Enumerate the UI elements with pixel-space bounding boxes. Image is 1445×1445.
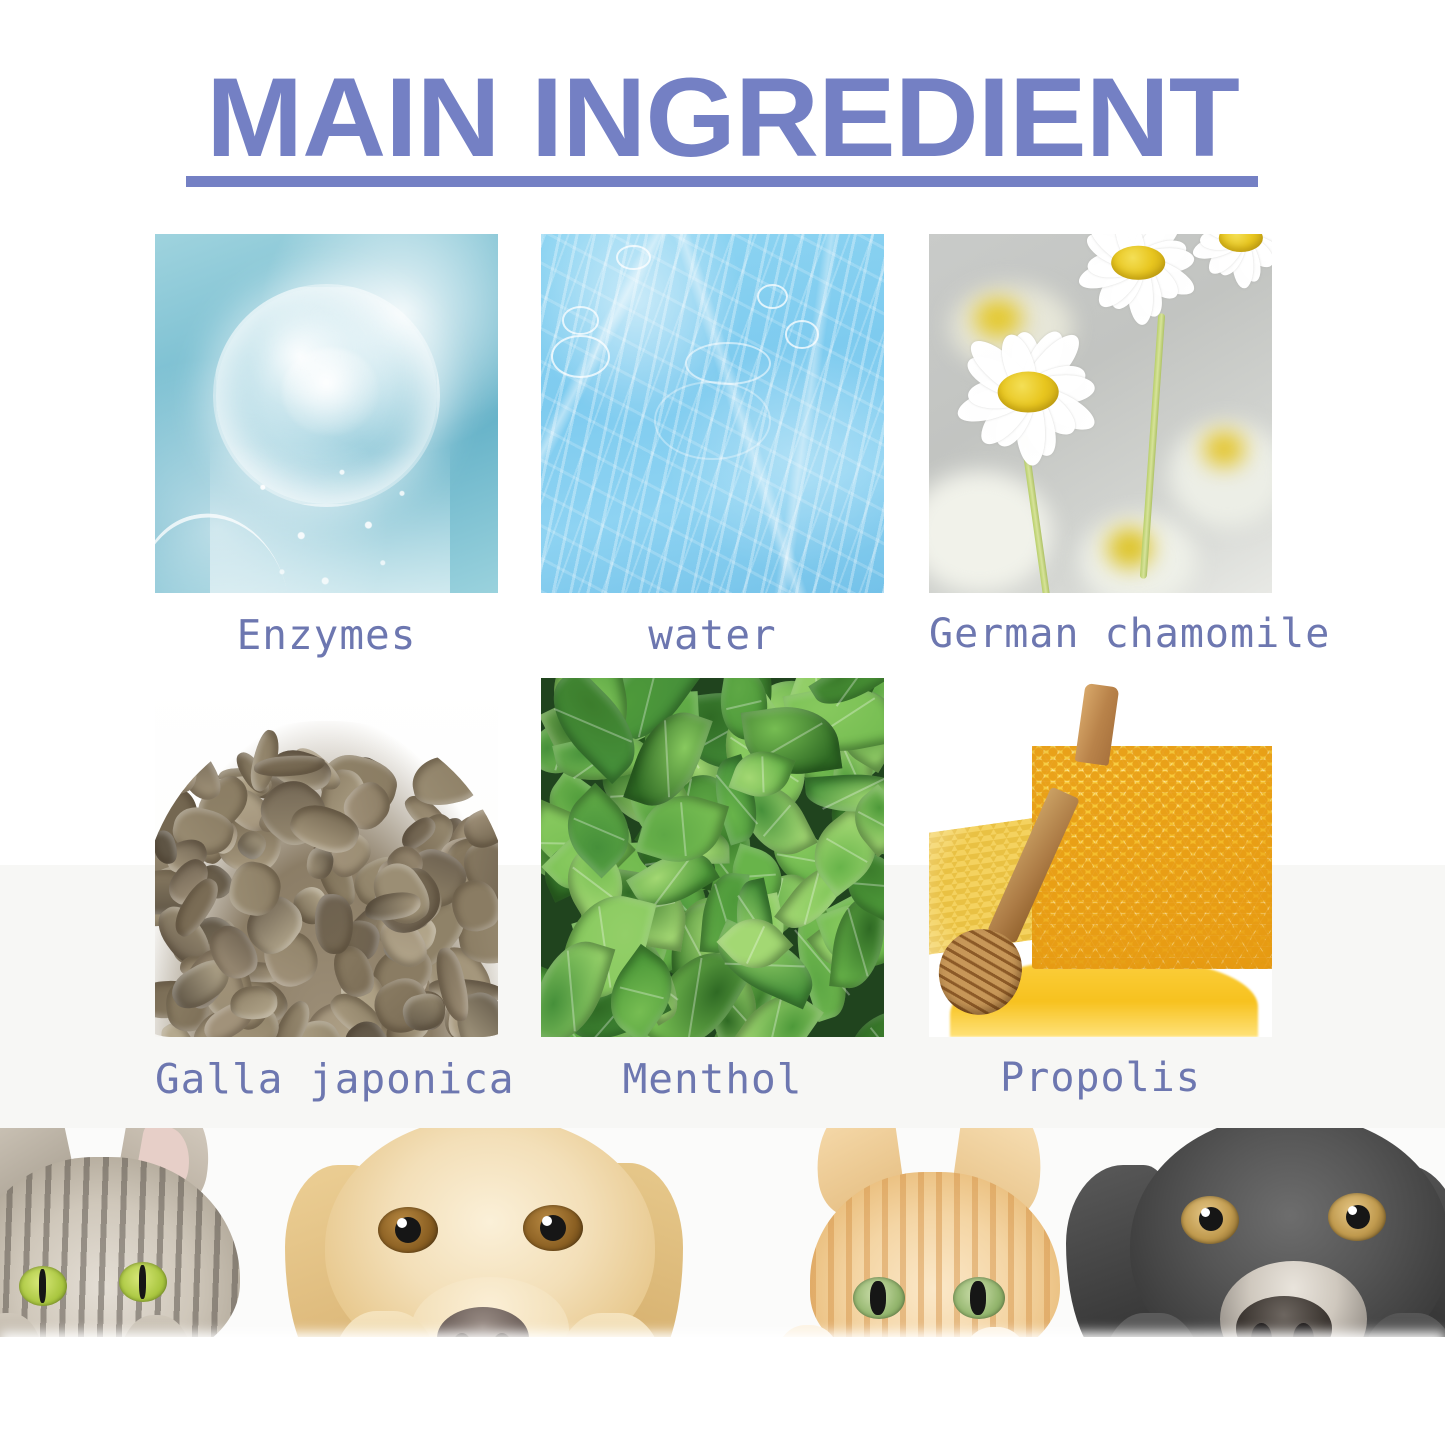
- ingredient-card-galla-japonica[interactable]: Galla japonica: [155, 678, 498, 1103]
- water-ripple: [616, 245, 650, 270]
- ingredient-card-enzymes[interactable]: Enzymes: [155, 234, 498, 659]
- ingredient-card-water[interactable]: water: [541, 234, 884, 659]
- water-ripple: [562, 306, 600, 335]
- chamomile-flower: [939, 324, 1117, 460]
- ingredient-card-german-chamomile[interactable]: German chamomile: [929, 234, 1272, 657]
- dog-eye-left: [1181, 1196, 1239, 1244]
- ingredient-card-propolis[interactable]: Propolis: [929, 678, 1272, 1101]
- white-board-ledge: [0, 1337, 1445, 1445]
- ingredient-image-propolis: [929, 678, 1272, 1037]
- chamomile-flower: [1176, 234, 1272, 284]
- dog-eye-glint-right: [1348, 1206, 1357, 1215]
- ingredient-label-german-chamomile: German chamomile: [929, 611, 1272, 657]
- honeycomb-cells: [1032, 746, 1272, 969]
- dog-eye-left: [378, 1207, 438, 1253]
- water-ripple: [551, 335, 609, 378]
- dog-eye-right: [1328, 1193, 1386, 1241]
- gall-nut-pile: [155, 721, 498, 1037]
- ingredient-label-propolis: Propolis: [929, 1055, 1272, 1101]
- page-title-container: MAIN INGREDIENT: [0, 62, 1445, 174]
- ingredient-row-1: Enzymes water: [0, 234, 1445, 678]
- ingredient-grid: Enzymes water: [0, 234, 1445, 1122]
- cat-eye-right: [953, 1277, 1005, 1319]
- propolis-honeycomb-illustration: [929, 678, 1272, 1037]
- dog-eye-right: [523, 1205, 583, 1251]
- ingredient-label-water: water: [541, 611, 884, 659]
- chamomile-flowers-illustration: [929, 234, 1272, 593]
- ingredient-label-menthol: Menthol: [541, 1055, 884, 1103]
- cat-pupil-right: [970, 1281, 986, 1315]
- title-underline-rule: [186, 176, 1258, 187]
- cat-eye-left: [19, 1266, 67, 1306]
- enzyme-bubble-illustration: [155, 234, 498, 593]
- ingredient-label-galla-japonica: Galla japonica: [155, 1055, 498, 1103]
- ingredient-label-enzymes: Enzymes: [155, 611, 498, 659]
- cat-pupil-right: [139, 1265, 146, 1299]
- dog-eye-glint-left: [1201, 1208, 1210, 1217]
- galla-japonica-illustration: [155, 678, 498, 1037]
- bubble-core-highlight: [282, 348, 379, 435]
- cat-eye-right: [119, 1262, 167, 1302]
- flower-centre: [1111, 245, 1165, 279]
- water-surface-illustration: [541, 234, 884, 593]
- gall-nut-chip: [313, 893, 354, 955]
- ingredient-image-enzymes: [155, 234, 498, 593]
- ingredient-image-water: [541, 234, 884, 593]
- page-title: MAIN INGREDIENT: [206, 62, 1239, 174]
- cat-pupil-left: [39, 1269, 46, 1303]
- background-blur-blob: [1203, 431, 1244, 467]
- water-ripple: [785, 320, 819, 349]
- honeycomb-slab: [1032, 746, 1272, 969]
- mint-leaf: [840, 1004, 884, 1037]
- flower-centre: [998, 371, 1059, 412]
- ingredient-image-galla-japonica: [155, 678, 498, 1037]
- ingredient-row-2: Galla japonica Menthol: [0, 678, 1445, 1122]
- ingredient-image-menthol: [541, 678, 884, 1037]
- water-ripple: [654, 381, 771, 460]
- cat-eye-left: [853, 1277, 905, 1319]
- ingredient-card-menthol[interactable]: Menthol: [541, 678, 884, 1103]
- mint-leaves-illustration: [541, 678, 884, 1037]
- pets-photo-band: [0, 1128, 1445, 1445]
- water-ripple: [685, 342, 771, 385]
- dog-eye-glint-right: [542, 1216, 552, 1226]
- cat-pupil-left: [870, 1281, 886, 1315]
- ingredient-image-german-chamomile: [929, 234, 1272, 593]
- dog-eye-glint-left: [397, 1218, 407, 1228]
